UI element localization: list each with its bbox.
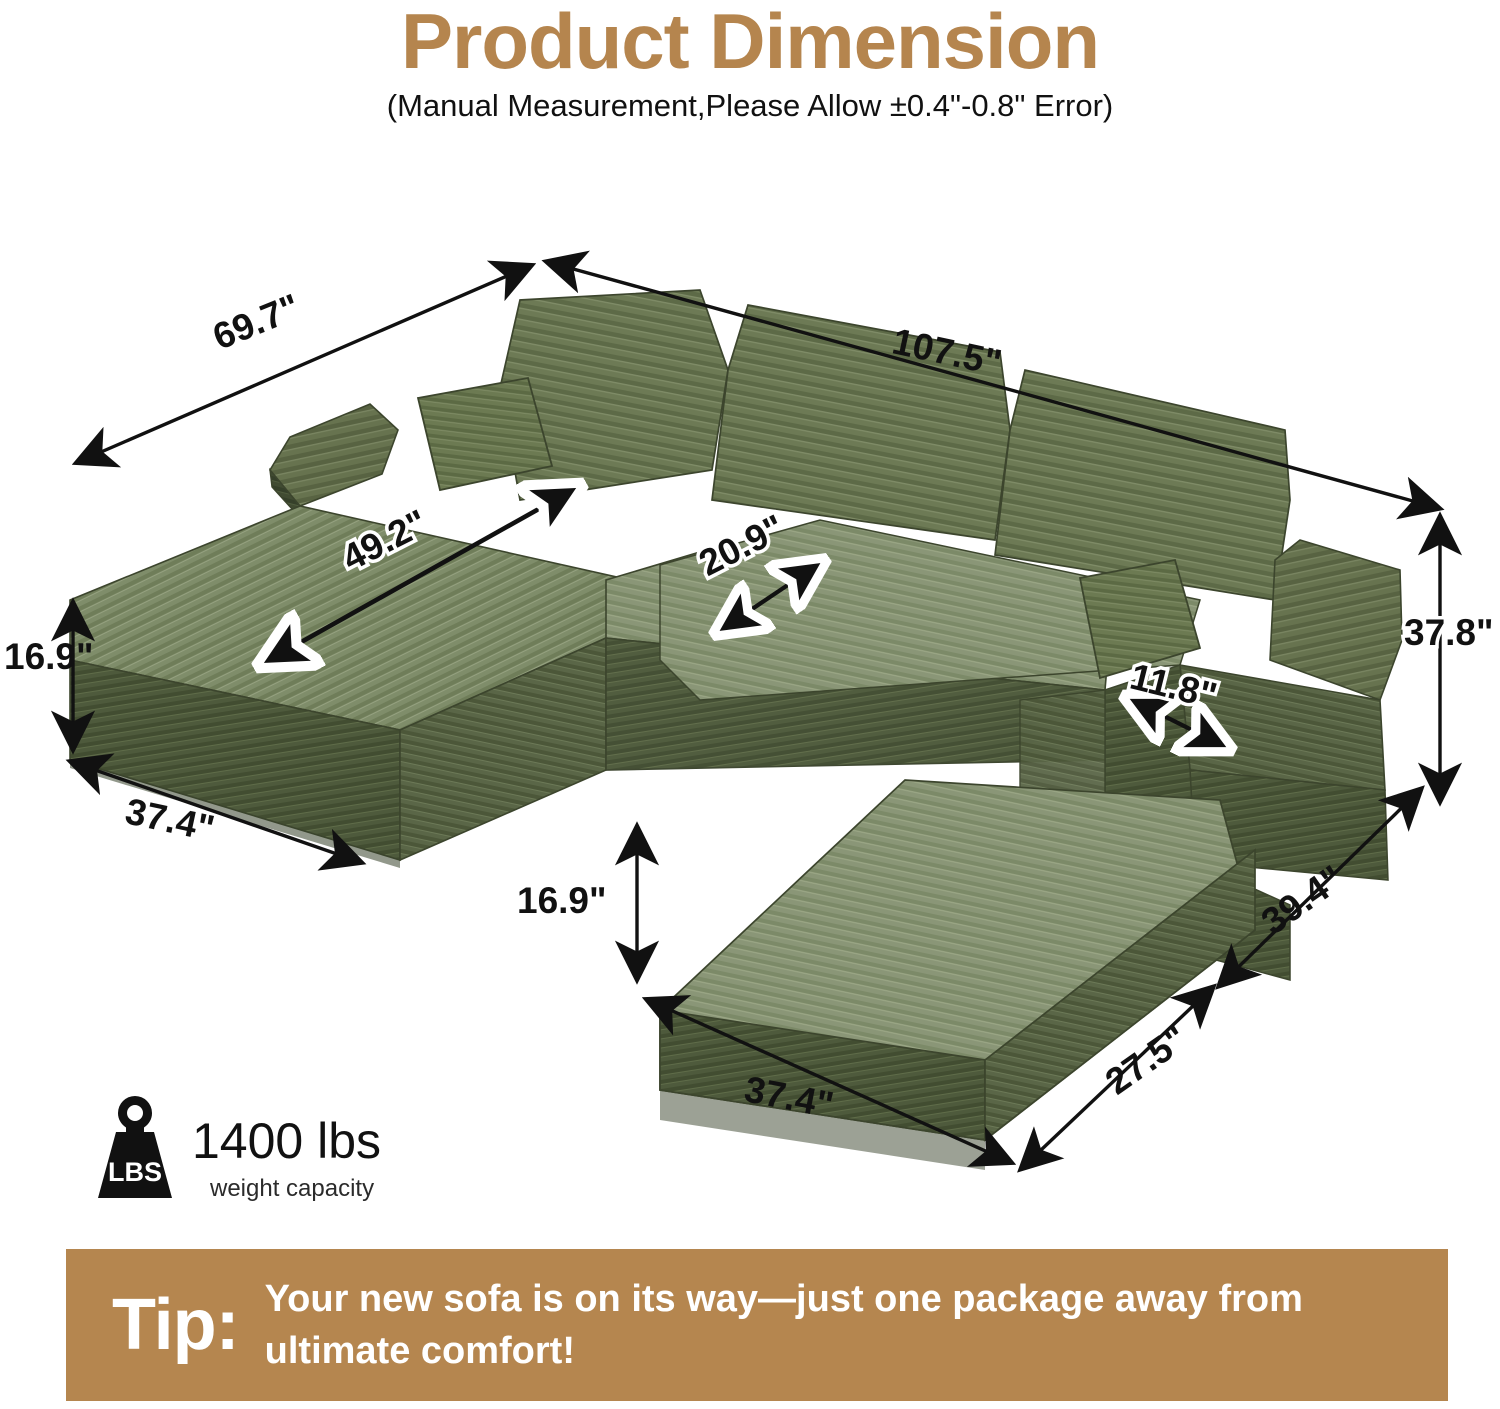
weight-icon: LBS [92, 1094, 178, 1204]
weight-caption: weight capacity [210, 1175, 381, 1203]
chaise-back-cushion [270, 404, 398, 520]
ottoman-module [660, 780, 1255, 1170]
dim-label-overall-height: 37.8" [1404, 612, 1494, 654]
dim-label-ottoman-height: 16.9" [517, 880, 607, 922]
tip-banner: Tip: Your new sofa is on its way—just on… [66, 1249, 1448, 1401]
tip-label: Tip: [112, 1289, 239, 1361]
weight-text-group: 1400 lbs weight capacity [192, 1094, 381, 1203]
weight-capacity-badge: LBS 1400 lbs weight capacity [92, 1094, 381, 1204]
tip-text: Your new sofa is on its way—just one pac… [265, 1273, 1405, 1378]
dim-label-seat-height-left: 16.9" [4, 636, 94, 678]
weight-value: 1400 lbs [192, 1116, 381, 1166]
weight-icon-label: LBS [108, 1157, 162, 1187]
